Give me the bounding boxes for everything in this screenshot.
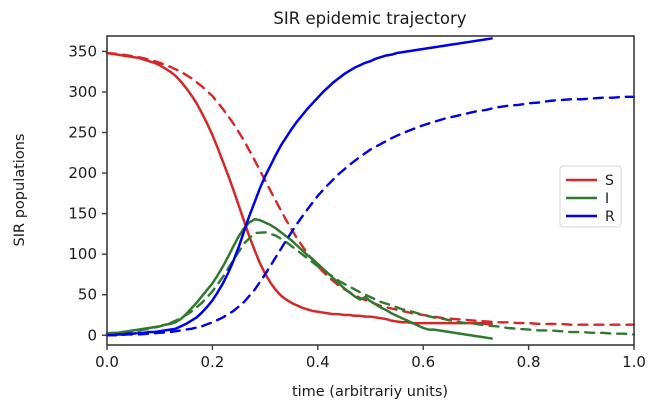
y-tick-label: 200 xyxy=(68,164,97,182)
y-axis-ticks: 050100150200250300350 xyxy=(68,42,107,344)
x-axis-label: time (arbitrariy units) xyxy=(292,384,448,400)
legend[interactable]: SIR xyxy=(560,166,621,227)
y-tick-label: 350 xyxy=(68,42,97,60)
y-tick-label: 100 xyxy=(68,245,97,263)
chart-title: SIR epidemic trajectory xyxy=(273,9,466,28)
sir-chart: SIR epidemic trajectory 0.00.20.40.60.81… xyxy=(0,0,671,408)
x-tick-label: 0.4 xyxy=(306,353,330,371)
y-tick-label: 50 xyxy=(78,286,97,304)
x-tick-label: 0.0 xyxy=(95,353,119,371)
y-tick-label: 150 xyxy=(68,205,97,223)
legend-entries: SIR xyxy=(566,173,615,225)
legend-label-S: S xyxy=(605,173,614,189)
x-tick-label: 1.0 xyxy=(622,353,646,371)
y-tick-label: 0 xyxy=(87,326,97,344)
y-tick-label: 250 xyxy=(68,124,97,142)
legend-label-I: I xyxy=(605,191,609,207)
y-tick-label: 300 xyxy=(68,83,97,101)
x-tick-label: 0.8 xyxy=(517,353,541,371)
y-axis-label: SIR populations xyxy=(12,134,28,247)
x-axis-ticks: 0.00.20.40.60.81.0 xyxy=(95,345,646,371)
x-tick-label: 0.6 xyxy=(411,353,435,371)
legend-label-R: R xyxy=(605,209,615,225)
x-tick-label: 0.2 xyxy=(200,353,224,371)
plot-area-background xyxy=(107,36,634,345)
sir-epidemic-figure: SIR epidemic trajectory 0.00.20.40.60.81… xyxy=(0,0,671,408)
